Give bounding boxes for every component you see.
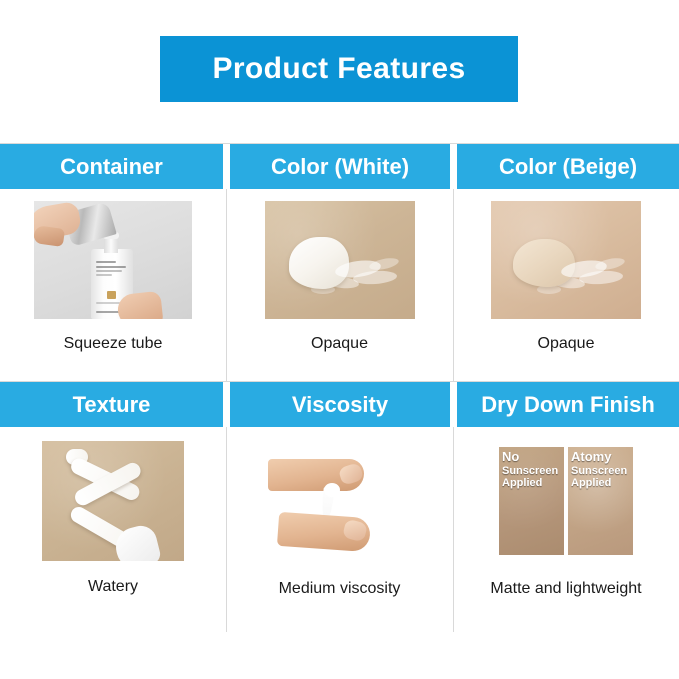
caption-dry-down-finish: Matte and lightweight — [490, 580, 641, 598]
cell-color-beige: Opaque — [453, 189, 679, 381]
header-gap — [223, 144, 230, 189]
product-features-infographic: Product Features Container Color (White)… — [0, 0, 679, 679]
header-label-color-white: Color (White) — [271, 156, 409, 178]
atomy-sunscreen-line-1: Atomy — [571, 450, 627, 465]
caption-texture: Watery — [88, 578, 138, 596]
no-sunscreen-line-2: Sunscreen — [502, 465, 558, 477]
header-cell-color-beige: Color (Beige) — [457, 144, 679, 189]
header-row-2: Texture Viscosity Dry Down Finish — [0, 382, 679, 427]
white-cream-swatch-photo — [265, 201, 415, 319]
panel-atomy-sunscreen-label: Atomy Sunscreen Applied — [571, 450, 627, 489]
header-label-viscosity: Viscosity — [292, 394, 388, 416]
beige-cream-blob — [513, 239, 575, 287]
cell-container: Squeeze tube — [0, 189, 226, 381]
panel-atomy-sunscreen: Atomy Sunscreen Applied — [568, 447, 633, 555]
no-sunscreen-line-1: No — [502, 450, 558, 465]
tube-label-line — [96, 274, 112, 276]
header-gap — [450, 144, 457, 189]
caption-color-white: Opaque — [311, 335, 368, 353]
tube-neck-shape — [104, 237, 118, 253]
caption-color-beige: Opaque — [538, 335, 595, 353]
atomy-sunscreen-line-2: Sunscreen — [571, 465, 627, 477]
cell-color-white: Opaque — [226, 189, 453, 381]
caption-viscosity: Medium viscosity — [279, 580, 401, 598]
panel-no-sunscreen: No Sunscreen Applied — [499, 447, 564, 555]
cell-texture: Watery — [0, 427, 226, 632]
tube-label-line — [96, 261, 116, 263]
panel-no-sunscreen-label: No Sunscreen Applied — [502, 450, 558, 489]
header-cell-texture: Texture — [0, 382, 223, 427]
title-banner: Product Features — [160, 36, 518, 102]
no-sunscreen-line-3: Applied — [502, 477, 558, 489]
header-label-dry-down-finish: Dry Down Finish — [481, 394, 655, 416]
header-label-container: Container — [60, 156, 163, 178]
tube-label-line — [96, 270, 122, 272]
cell-viscosity: Medium viscosity — [226, 427, 453, 632]
header-cell-viscosity: Viscosity — [230, 382, 450, 427]
header-row-1: Container Color (White) Color (Beige) — [0, 144, 679, 189]
zigzag-cream-texture-photo — [42, 441, 184, 561]
fingers-viscosity-photo — [260, 441, 420, 563]
dry-down-panels: No Sunscreen Applied Atomy Sunscreen App… — [499, 447, 633, 555]
dry-down-comparison-photo: No Sunscreen Applied Atomy Sunscreen App… — [488, 441, 644, 563]
caption-container: Squeeze tube — [64, 335, 163, 353]
table-row-2: Watery Medium viscosity — [0, 427, 679, 632]
squeeze-tube-photo — [34, 201, 192, 319]
atomy-sunscreen-line-3: Applied — [571, 477, 627, 489]
tube-label-line — [96, 266, 126, 268]
page-title: Product Features — [212, 54, 465, 84]
beige-cream-swatch-photo — [491, 201, 641, 319]
header-gap — [450, 382, 457, 427]
header-cell-dry-down-finish: Dry Down Finish — [457, 382, 679, 427]
table-row-1: Squeeze tube Opaque — [0, 189, 679, 381]
header-gap — [223, 382, 230, 427]
cream-drop — [324, 483, 340, 497]
tube-gold-mark — [107, 291, 116, 299]
tube-label-line — [96, 302, 120, 304]
header-cell-container: Container — [0, 144, 223, 189]
features-table: Container Color (White) Color (Beige) — [0, 143, 679, 632]
white-cream-blob — [289, 237, 349, 289]
cell-dry-down-finish: No Sunscreen Applied Atomy Sunscreen App… — [453, 427, 679, 632]
header-cell-color-white: Color (White) — [230, 144, 450, 189]
header-label-texture: Texture — [73, 394, 151, 416]
header-label-color-beige: Color (Beige) — [499, 156, 637, 178]
